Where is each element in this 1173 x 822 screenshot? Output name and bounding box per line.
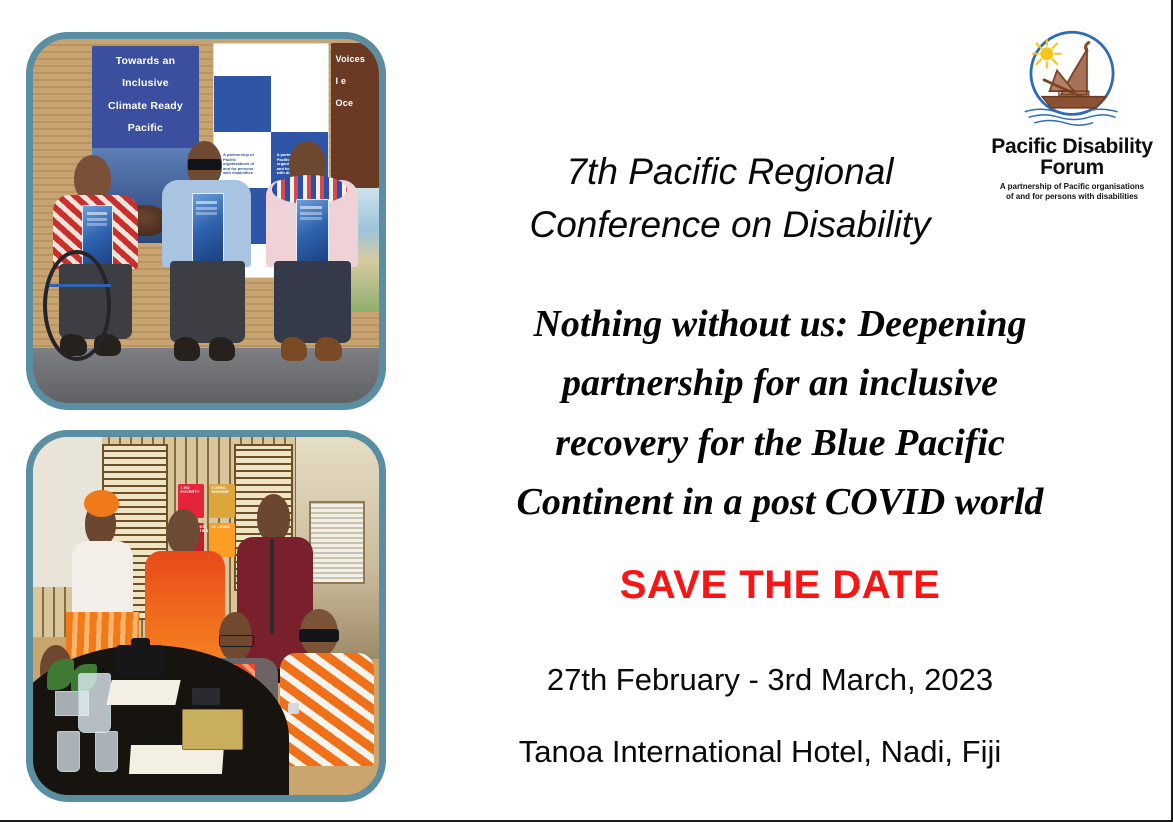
photo-bottom-scene: 1 NOPOVERTY 2 ZEROHUNGER 10 REDUCEDINEQU… bbox=[33, 437, 379, 795]
shoe-right bbox=[209, 337, 235, 361]
banner-center-block-1 bbox=[214, 76, 271, 132]
banner-right-line2: l e bbox=[331, 65, 379, 87]
banner-center-logo-label-2: Pacific Disability Forum bbox=[303, 90, 324, 104]
person-right-garland bbox=[261, 141, 368, 403]
logo-canoe-icon bbox=[1016, 22, 1128, 134]
shoe-right bbox=[315, 337, 342, 361]
wheelchair-frame bbox=[49, 284, 111, 287]
photo-top-scene: Towards an Inclusive Climate Ready Pacif… bbox=[33, 39, 379, 403]
legs bbox=[274, 261, 351, 342]
banner-center-logo-label-1: Pacific Disability Forum bbox=[250, 90, 271, 104]
conference-theme: Nothing without us: Deepening partnershi… bbox=[420, 295, 1140, 532]
wheelchair-wheel bbox=[43, 250, 111, 362]
poster: Towards an Inclusive Climate Ready Pacif… bbox=[0, 0, 1173, 822]
water-glass-1 bbox=[57, 731, 80, 772]
conference-title-line1: 7th Pacific Regional bbox=[430, 146, 1030, 199]
banner-right-line1: Voices bbox=[331, 43, 379, 65]
theme-line3: recovery for the Blue Pacific bbox=[420, 414, 1140, 473]
banner-left-line3: Climate Ready bbox=[92, 91, 199, 113]
report-booklet bbox=[296, 199, 329, 267]
laptop bbox=[182, 709, 243, 750]
banner-right-line3: Oce bbox=[331, 87, 379, 109]
torso-white-lace-top bbox=[72, 541, 133, 616]
save-the-date-heading: SAVE THE DATE bbox=[420, 563, 1140, 608]
person-seated-sunglasses bbox=[282, 609, 372, 767]
report-booklet bbox=[192, 193, 224, 263]
conference-title: 7th Pacific Regional Conference on Disab… bbox=[430, 146, 1030, 251]
theme-line2: partnership for an inclusive bbox=[420, 354, 1140, 413]
paper-document-1 bbox=[106, 680, 181, 705]
sdg-label-1: 1 NOPOVERTY bbox=[180, 486, 199, 495]
person-center-blue-shirt bbox=[158, 141, 262, 403]
water-glass-2 bbox=[95, 731, 118, 772]
banner-left-line2: Inclusive bbox=[92, 68, 199, 90]
banner-left-line4: Pacific bbox=[92, 113, 199, 135]
theme-line4: Continent in a post COVID world bbox=[420, 473, 1140, 532]
hair-flower bbox=[84, 490, 119, 517]
shoe-left bbox=[174, 337, 200, 361]
sdg-label-2: 2 ZEROHUNGER bbox=[211, 486, 228, 495]
banner-center-logo-icon-2 bbox=[279, 90, 293, 104]
theme-line1: Nothing without us: Deepening bbox=[420, 295, 1140, 354]
legs bbox=[170, 261, 245, 342]
sunglasses bbox=[188, 159, 221, 169]
conference-venue: Tanoa International Hotel, Nadi, Fiji bbox=[410, 734, 1110, 770]
head bbox=[167, 509, 200, 556]
wristwatch bbox=[288, 703, 300, 714]
photo-bottom-group: 1 NOPOVERTY 2 ZEROHUNGER 10 REDUCEDINEQU… bbox=[26, 430, 386, 802]
eyeglasses bbox=[219, 635, 254, 647]
banner-left-line1: Towards an bbox=[92, 46, 199, 68]
shoe-left bbox=[281, 337, 308, 361]
conference-dates: 27th February - 3rd March, 2023 bbox=[420, 662, 1120, 698]
mobile-phone bbox=[192, 688, 220, 706]
content-column: Pacific Disability Forum A partnership o… bbox=[400, 0, 1171, 820]
head bbox=[257, 494, 290, 541]
conference-title-line2: Conference on Disability bbox=[430, 199, 1030, 252]
person-left-wheelchair-user bbox=[47, 155, 151, 403]
louvre-window bbox=[309, 501, 365, 584]
sunglasses bbox=[299, 629, 339, 642]
dslr-camera bbox=[116, 645, 164, 677]
photo-top-delegates: Towards an Inclusive Climate Ready Pacif… bbox=[26, 32, 386, 410]
